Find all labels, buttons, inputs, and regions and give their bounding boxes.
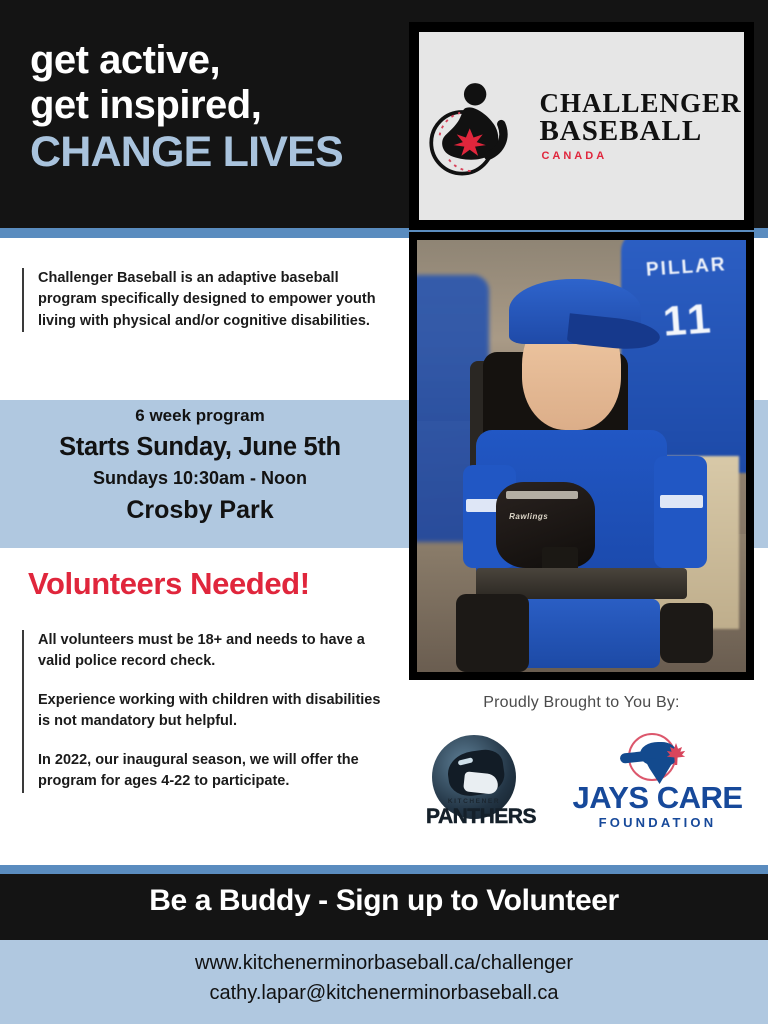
volunteer-text-block: All volunteers must be 18+ and needs to … bbox=[22, 630, 392, 793]
program-photo-frame: PILLAR 11 Rawlings bbox=[409, 232, 754, 680]
jays-care-foundation-logo: JAYS CARE FOUNDATION bbox=[570, 732, 745, 834]
program-details: 6 week program Starts Sunday, June 5th S… bbox=[0, 404, 400, 528]
program-schedule: Sundays 10:30am - Noon bbox=[0, 465, 400, 492]
volunteers-needed-heading: Volunteers Needed! bbox=[28, 566, 310, 602]
page-title: get active, get inspired, CHANGE LIVES bbox=[30, 38, 400, 176]
footer-contact-info: www.kitchenerminorbaseball.ca/challenger… bbox=[0, 948, 768, 1008]
photo-jersey-number: 11 bbox=[661, 294, 715, 345]
headline-line-1: get active, bbox=[30, 38, 400, 83]
program-location: Crosby Park bbox=[0, 492, 400, 528]
program-start-date: Starts Sunday, June 5th bbox=[0, 429, 400, 465]
kitchener-panthers-logo: KITCHENER PANTHERS bbox=[418, 733, 544, 833]
headline-line-3: CHANGE LIVES bbox=[30, 128, 400, 176]
footer-call-to-action: Be a Buddy - Sign up to Volunteer bbox=[0, 884, 768, 918]
photo-wheelchair-wheel-right bbox=[660, 603, 713, 663]
photo-child-sleeve-right bbox=[654, 456, 707, 568]
jays-care-wordmark: JAYS CARE FOUNDATION bbox=[570, 782, 745, 830]
challenger-baseball-wheelchair-icon bbox=[421, 70, 533, 182]
bottom-accent-rule bbox=[0, 865, 768, 874]
logo-word-baseball: BASEBALL bbox=[539, 117, 702, 145]
program-photo: PILLAR 11 Rawlings bbox=[417, 240, 746, 672]
photo-jersey-stripe-right bbox=[660, 495, 703, 508]
photo-glove-lacing bbox=[506, 491, 578, 500]
logo-word-challenger: CHALLENGER bbox=[539, 90, 741, 116]
photo-glove-brand: Rawlings bbox=[509, 512, 548, 521]
logo-inner: CHALLENGER BASEBALL CANADA bbox=[419, 32, 744, 220]
jays-care-label: JAYS CARE bbox=[570, 782, 745, 814]
volunteer-season: In 2022, our inaugural season, we will o… bbox=[38, 750, 392, 793]
brought-to-you-by-label: Proudly Brought to You By: bbox=[409, 694, 754, 712]
poster-root: get active, get inspired, CHANGE LIVES C… bbox=[0, 0, 768, 1024]
challenger-baseball-wordmark: CHALLENGER BASEBALL CANADA bbox=[539, 90, 741, 162]
footer-email-link[interactable]: cathy.lapar@kitchenerminorbaseball.ca bbox=[0, 978, 768, 1008]
volunteer-requirement: All volunteers must be 18+ and needs to … bbox=[38, 630, 392, 673]
sponsors-section: Proudly Brought to You By: KITCHENER PAN… bbox=[409, 694, 754, 834]
challenger-baseball-logo-panel: CHALLENGER BASEBALL CANADA bbox=[409, 22, 754, 230]
foundation-label: FOUNDATION bbox=[570, 815, 745, 830]
photo-wheelchair-wheel-left bbox=[456, 594, 528, 672]
sponsor-logo-row: KITCHENER PANTHERS JAYS CARE FOUNDATION bbox=[409, 732, 754, 834]
intro-text-block: Challenger Baseball is an adaptive baseb… bbox=[22, 268, 392, 332]
blue-jays-bird-icon bbox=[620, 732, 694, 784]
volunteer-experience: Experience working with children with di… bbox=[38, 690, 392, 733]
intro-paragraph: Challenger Baseball is an adaptive baseb… bbox=[38, 268, 392, 332]
panthers-name-label: PANTHERS bbox=[418, 805, 544, 829]
headline-line-2: get inspired, bbox=[30, 83, 400, 128]
footer-website-link[interactable]: www.kitchenerminorbaseball.ca/challenger bbox=[0, 948, 768, 978]
program-duration: 6 week program bbox=[0, 404, 400, 429]
logo-word-canada: CANADA bbox=[541, 150, 607, 162]
